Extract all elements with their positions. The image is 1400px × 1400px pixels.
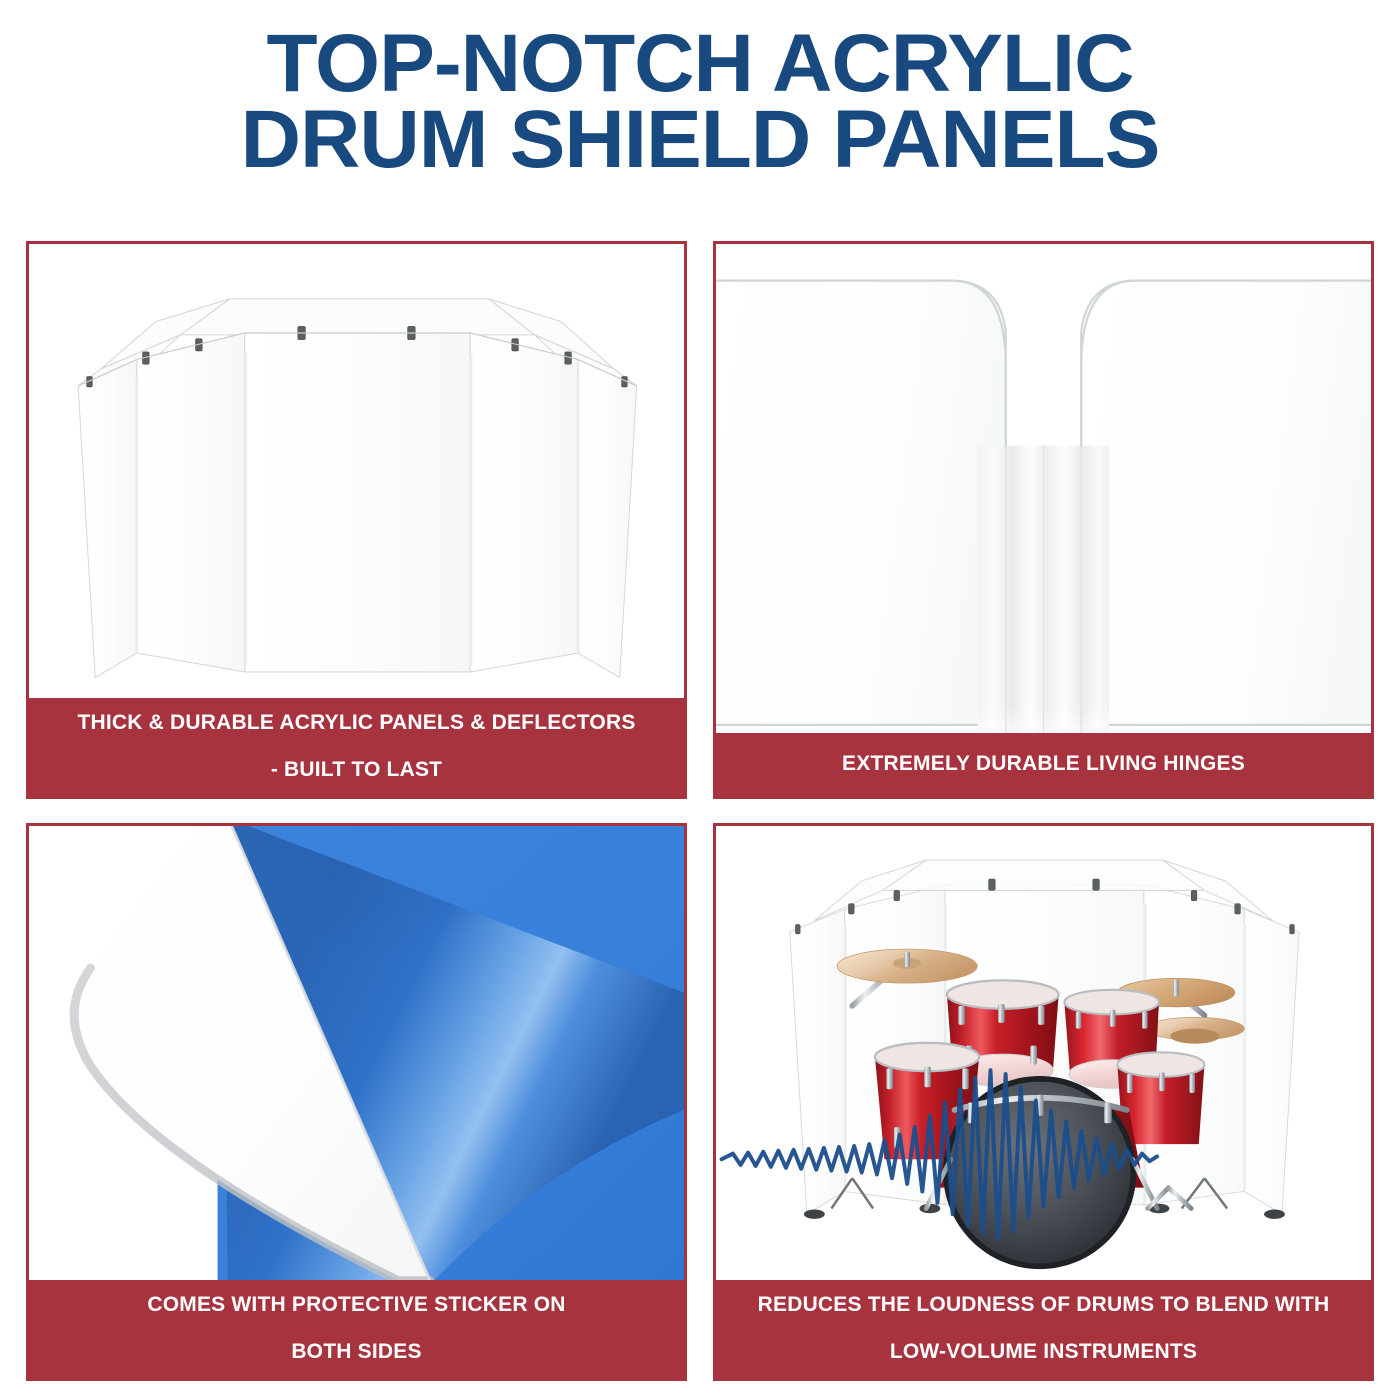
feature-card-noise-reduction: REDUCES THE LOUDNESS OF DRUMS TO BLEND W… xyxy=(713,823,1374,1381)
drum-shield-image xyxy=(29,244,684,698)
caption-line-2: LOW-VOLUME INSTRUMENTS xyxy=(728,1340,1359,1364)
drum-kit-in-shield-illustration xyxy=(716,826,1371,1280)
caption-line-1: EXTREMELY DURABLE LIVING HINGES xyxy=(728,752,1359,776)
feature-caption-living-hinges: EXTREMELY DURABLE LIVING HINGES xyxy=(716,733,1371,796)
caption-line-1: COMES WITH PROTECTIVE STICKER ON xyxy=(41,1293,672,1317)
caption-line-2: BOTH SIDES xyxy=(41,1340,672,1364)
page-title-line-1: TOP-NOTCH ACRYLIC xyxy=(0,26,1400,102)
feature-caption-acrylic-panels: THICK & DURABLE ACRYLIC PANELS & DEFLECT… xyxy=(29,698,684,796)
feature-card-acrylic-panels: THICK & DURABLE ACRYLIC PANELS & DEFLECT… xyxy=(26,241,687,799)
feature-caption-noise-reduction: REDUCES THE LOUDNESS OF DRUMS TO BLEND W… xyxy=(716,1280,1371,1378)
protective-film-illustration xyxy=(29,826,684,1280)
feature-caption-protective-sticker: COMES WITH PROTECTIVE STICKER ON BOTH SI… xyxy=(29,1280,684,1378)
living-hinge-illustration xyxy=(716,244,1371,733)
drum-kit-image xyxy=(716,826,1371,1280)
page-title: TOP-NOTCH ACRYLIC DRUM SHIELD PANELS xyxy=(0,26,1400,179)
feature-grid: THICK & DURABLE ACRYLIC PANELS & DEFLECT… xyxy=(26,241,1374,1381)
caption-line-2: - BUILT TO LAST xyxy=(41,758,672,782)
drum-shield-illustration xyxy=(29,244,684,698)
caption-line-1: THICK & DURABLE ACRYLIC PANELS & DEFLECT… xyxy=(41,711,672,735)
feature-card-protective-sticker: COMES WITH PROTECTIVE STICKER ON BOTH SI… xyxy=(26,823,687,1381)
living-hinge-image xyxy=(716,244,1371,733)
protective-film-image xyxy=(29,826,684,1280)
caption-line-1: REDUCES THE LOUDNESS OF DRUMS TO BLEND W… xyxy=(728,1293,1359,1317)
infographic-page: TOP-NOTCH ACRYLIC DRUM SHIELD PANELS xyxy=(0,0,1400,1400)
feature-card-living-hinges: EXTREMELY DURABLE LIVING HINGES xyxy=(713,241,1374,799)
page-title-line-2: DRUM SHIELD PANELS xyxy=(0,102,1400,178)
